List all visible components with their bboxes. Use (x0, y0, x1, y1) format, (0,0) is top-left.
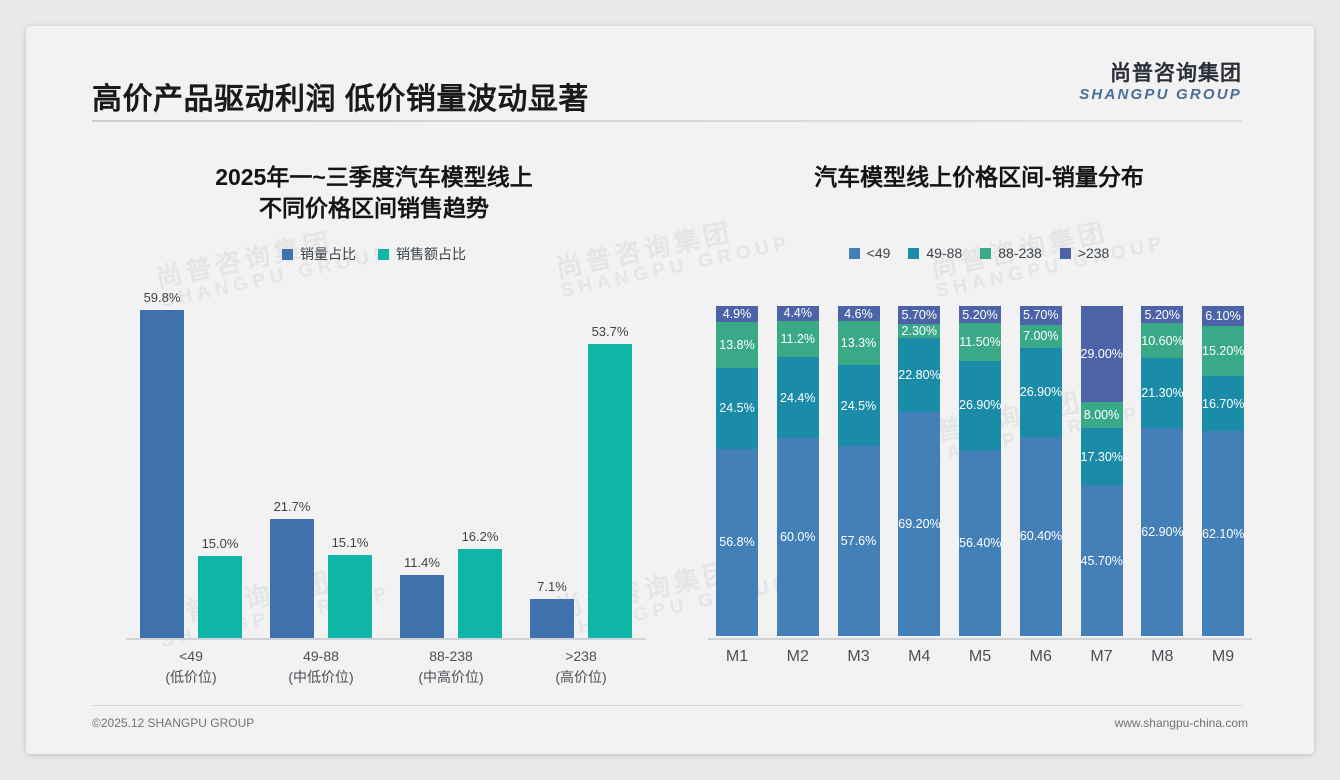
bar-column[interactable]: 21.7% (270, 519, 314, 638)
bar-value-label: 15.0% (202, 536, 239, 551)
segment-value-label: 15.20% (1202, 344, 1244, 358)
x-tick-label: M2 (777, 648, 819, 666)
segment-value-label: 60.40% (1020, 529, 1062, 543)
bar-column[interactable]: 11.4% (400, 575, 444, 638)
stack-segment[interactable]: 26.90% (1020, 348, 1062, 437)
segment-value-label: 69.20% (898, 517, 940, 531)
bar-value-label: 59.8% (144, 290, 181, 305)
segment-value-label: 4.6% (838, 307, 880, 321)
chart-title-left: 2025年一~三季度汽车模型线上 不同价格区间销售趋势 (74, 138, 674, 224)
bar-column[interactable]: 15.0% (198, 556, 242, 638)
stack-segment[interactable]: 24.4% (777, 357, 819, 438)
stack-segment[interactable]: 57.6% (838, 446, 880, 636)
segment-value-label: 13.8% (716, 338, 758, 352)
stacked-bar[interactable]: 5.20%11.50%26.90%56.40% (959, 306, 1001, 636)
bar-value-label: 7.1% (537, 579, 567, 594)
stack-segment[interactable]: 11.50% (959, 323, 1001, 361)
logo-chinese-text: 尚普咨询集团 (1079, 62, 1242, 86)
stack-segment[interactable]: 11.2% (777, 321, 819, 358)
plot-area-left: 59.8%15.0%21.7%15.1%11.4%16.2%7.1%53.7% (126, 298, 646, 638)
x-tick-label: M6 (1020, 648, 1062, 666)
x-axis-labels-right: M1M2M3M4M5M6M7M8M9 (716, 648, 1244, 666)
stack-segment[interactable]: 56.40% (959, 450, 1001, 636)
stack-segment[interactable]: 26.90% (959, 361, 1001, 450)
segment-value-label: 56.40% (959, 536, 1001, 550)
header-divider (92, 120, 1242, 122)
footer-copyright: ©2025.12 SHANGPU GROUP (92, 716, 254, 730)
legend-label: 销量占比 (300, 244, 356, 264)
bar-groups: 59.8%15.0%21.7%15.1%11.4%16.2%7.1%53.7% (126, 298, 646, 638)
stacked-bar[interactable]: 5.70%2.30%22.80%69.20% (898, 306, 940, 636)
segment-value-label: 60.0% (777, 530, 819, 544)
bar-group: 7.1%53.7% (530, 344, 632, 638)
x-tick-label: 49-88(中低价位) (266, 646, 376, 688)
legend-label: <49 (867, 245, 891, 261)
segment-value-label: 8.00% (1081, 408, 1123, 422)
stacked-bar[interactable]: 29.00%8.00%17.30%45.70% (1081, 306, 1123, 636)
x-tick-label: M8 (1141, 648, 1183, 666)
stack-segment[interactable]: 5.70% (1020, 306, 1062, 325)
legend-swatch-icon (908, 248, 919, 259)
stack-segment[interactable]: 10.60% (1141, 323, 1183, 358)
stacked-bar[interactable]: 5.70%7.00%26.90%60.40% (1020, 306, 1062, 636)
stack-segment[interactable]: 24.5% (838, 365, 880, 446)
bar-column[interactable]: 16.2% (458, 549, 502, 638)
bar-value-label: 15.1% (332, 535, 369, 550)
segment-value-label: 22.80% (898, 368, 940, 382)
bar-value-label: 16.2% (462, 529, 499, 544)
segment-value-label: 7.00% (1020, 329, 1062, 343)
stack-segment[interactable]: 8.00% (1081, 402, 1123, 428)
x-axis-labels-left: <49(低价位)49-88(中低价位)88-238(中高价位)>238(高价位) (126, 646, 646, 688)
x-tick-sublabel: (高价位) (526, 667, 636, 688)
legend-swatch-icon (1060, 248, 1071, 259)
x-tick-range: 49-88 (266, 646, 376, 667)
stacked-bar[interactable]: 4.6%13.3%24.5%57.6% (838, 306, 880, 636)
segment-value-label: 24.5% (716, 401, 758, 415)
segment-value-label: 11.50% (959, 335, 1001, 349)
x-tick-label: <49(低价位) (136, 646, 246, 688)
bar[interactable] (458, 549, 502, 638)
legend-item-volume-share[interactable]: 销量占比 (282, 244, 356, 264)
segment-value-label: 45.70% (1081, 554, 1123, 568)
segment-value-label: 5.70% (1020, 308, 1062, 322)
segment-value-label: 5.20% (959, 308, 1001, 322)
stacked-bar[interactable]: 4.4%11.2%24.4%60.0% (777, 306, 819, 636)
legend-item-revenue-share[interactable]: 销售额占比 (378, 244, 466, 264)
x-tick-label: M4 (898, 648, 940, 666)
bar-column[interactable]: 7.1% (530, 599, 574, 638)
legend-item-88-238[interactable]: 88-238 (980, 245, 1042, 261)
legend-label: >238 (1078, 245, 1110, 261)
stack-segment[interactable]: 62.10% (1202, 431, 1244, 636)
stacked-bar[interactable]: 5.20%10.60%21.30%62.90% (1141, 306, 1183, 636)
bar[interactable] (400, 575, 444, 638)
stack-segment[interactable]: 7.00% (1020, 325, 1062, 348)
page-title: 高价产品驱动利润 低价销量波动显著 (92, 74, 589, 118)
stack-segment[interactable]: 2.30% (898, 324, 940, 338)
segment-value-label: 5.20% (1141, 308, 1183, 322)
stack-segment[interactable]: 69.20% (898, 412, 940, 636)
stack-segment[interactable]: 16.70% (1202, 376, 1244, 431)
legend-swatch-icon (282, 249, 293, 260)
x-tick-label: M1 (716, 648, 758, 666)
segment-value-label: 26.90% (959, 398, 1001, 412)
x-tick-range: <49 (136, 646, 246, 667)
segment-value-label: 4.4% (777, 306, 819, 320)
segment-value-label: 5.70% (898, 308, 940, 322)
chart-title-left-line2: 不同价格区间销售趋势 (74, 193, 674, 224)
segment-value-label: 57.6% (838, 534, 880, 548)
chart-title-right: 汽车模型线上价格区间-销量分布 (686, 138, 1272, 193)
segment-value-label: 2.30% (898, 324, 940, 338)
x-axis-line-right (708, 638, 1252, 640)
segment-value-label: 13.3% (838, 336, 880, 350)
bar-column[interactable]: 15.1% (328, 555, 372, 638)
bar[interactable] (530, 599, 574, 638)
legend-label: 49-88 (926, 245, 962, 261)
brand-logo: 尚普咨询集团 SHANGPU GROUP (1079, 62, 1242, 104)
plot-area-right: 4.9%13.8%24.5%56.8%4.4%11.2%24.4%60.0%4.… (716, 306, 1244, 636)
x-tick-label: M9 (1202, 648, 1244, 666)
stack-segment[interactable]: 6.10% (1202, 306, 1244, 326)
stack-segment[interactable]: 45.70% (1081, 485, 1123, 636)
stack-segment[interactable]: 24.5% (716, 368, 758, 449)
segment-value-label: 29.00% (1081, 347, 1123, 361)
bar-column[interactable]: 53.7% (588, 344, 632, 638)
x-tick-label: 88-238(中高价位) (396, 646, 506, 688)
segment-value-label: 24.4% (777, 391, 819, 405)
legend-item-<49[interactable]: <49 (849, 245, 891, 261)
stack-segment[interactable]: 21.30% (1141, 358, 1183, 428)
bar-column[interactable]: 59.8% (140, 310, 184, 638)
slide-header: 高价产品驱动利润 低价销量波动显著 尚普咨询集团 SHANGPU GROUP (26, 26, 1314, 122)
segment-value-label: 62.90% (1141, 525, 1183, 539)
x-tick-sublabel: (中高价位) (396, 667, 506, 688)
stack-segment[interactable]: 62.90% (1141, 428, 1183, 636)
stack-segment[interactable]: 13.3% (838, 321, 880, 365)
legend-right: <4949-8888-238>238 (686, 245, 1272, 261)
segment-value-label: 21.30% (1141, 386, 1183, 400)
segment-value-label: 62.10% (1202, 527, 1244, 541)
footer-divider (92, 705, 1242, 706)
stack-segment[interactable]: 56.8% (716, 449, 758, 636)
segment-value-label: 4.9% (716, 307, 758, 321)
legend-swatch-icon (849, 248, 860, 259)
stack-segment[interactable]: 17.30% (1081, 428, 1123, 485)
stack-segment[interactable]: 22.80% (898, 338, 940, 412)
segment-value-label: 17.30% (1081, 450, 1123, 464)
stack-segment[interactable]: 5.20% (959, 306, 1001, 323)
x-tick-label: M3 (838, 648, 880, 666)
legend-swatch-icon (980, 248, 991, 259)
stack-segment[interactable]: 60.0% (777, 438, 819, 636)
chart-panel-sales-trend: 2025年一~三季度汽车模型线上 不同价格区间销售趋势 销量占比 销售额占比 5… (74, 138, 674, 698)
chart-panel-price-distribution: 汽车模型线上价格区间-销量分布 <4949-8888-238>238 4.9%1… (686, 138, 1272, 698)
bar-group: 11.4%16.2% (400, 549, 502, 638)
legend-left: 销量占比 销售额占比 (74, 244, 674, 264)
bar[interactable] (328, 555, 372, 638)
x-tick-label: M7 (1081, 648, 1123, 666)
stack-segment[interactable]: 60.40% (1020, 437, 1062, 636)
stack-segment[interactable]: 5.70% (898, 306, 940, 324)
x-tick-sublabel: (低价位) (136, 667, 246, 688)
stack-segment[interactable]: 5.20% (1141, 306, 1183, 323)
segment-value-label: 10.60% (1141, 334, 1183, 348)
bar[interactable] (140, 310, 184, 638)
legend-label: 88-238 (998, 245, 1042, 261)
legend-label: 销售额占比 (396, 244, 466, 264)
segment-value-label: 11.2% (777, 332, 819, 346)
chart-title-left-line1: 2025年一~三季度汽车模型线上 (74, 162, 674, 193)
bar[interactable] (270, 519, 314, 638)
segment-value-label: 56.8% (716, 535, 758, 549)
legend-swatch-icon (378, 249, 389, 260)
x-tick-sublabel: (中低价位) (266, 667, 376, 688)
stacked-bar[interactable]: 6.10%15.20%16.70%62.10% (1202, 306, 1244, 636)
bar-group: 21.7%15.1% (270, 519, 372, 638)
segment-value-label: 6.10% (1202, 309, 1244, 323)
slide: 高价产品驱动利润 低价销量波动显著 尚普咨询集团 SHANGPU GROUP 尚… (26, 26, 1314, 754)
bar-group: 59.8%15.0% (140, 310, 242, 638)
logo-english-text: SHANGPU GROUP (1079, 86, 1242, 104)
bar[interactable] (588, 344, 632, 638)
x-tick-label: M5 (959, 648, 1001, 666)
stack-segment[interactable]: 15.20% (1202, 326, 1244, 376)
stack-segment[interactable]: 4.4% (777, 306, 819, 321)
segment-value-label: 24.5% (838, 399, 880, 413)
bar[interactable] (198, 556, 242, 638)
stack-segment[interactable]: 4.9% (716, 306, 758, 322)
bar-value-label: 53.7% (592, 324, 629, 339)
x-axis-line-left (126, 638, 646, 640)
footer-website: www.shangpu-china.com (1115, 716, 1248, 730)
segment-value-label: 26.90% (1020, 385, 1062, 399)
x-tick-range: 88-238 (396, 646, 506, 667)
stack-segment[interactable]: 4.6% (838, 306, 880, 321)
bar-value-label: 21.7% (274, 499, 311, 514)
stacked-bar[interactable]: 4.9%13.8%24.5%56.8% (716, 306, 758, 636)
bar-value-label: 11.4% (404, 555, 440, 570)
segment-value-label: 16.70% (1202, 397, 1244, 411)
legend-item->238[interactable]: >238 (1060, 245, 1110, 261)
legend-item-49-88[interactable]: 49-88 (908, 245, 962, 261)
x-tick-label: >238(高价位) (526, 646, 636, 688)
stack-segment[interactable]: 13.8% (716, 322, 758, 368)
x-tick-range: >238 (526, 646, 636, 667)
stack-segment[interactable]: 29.00% (1081, 306, 1123, 402)
